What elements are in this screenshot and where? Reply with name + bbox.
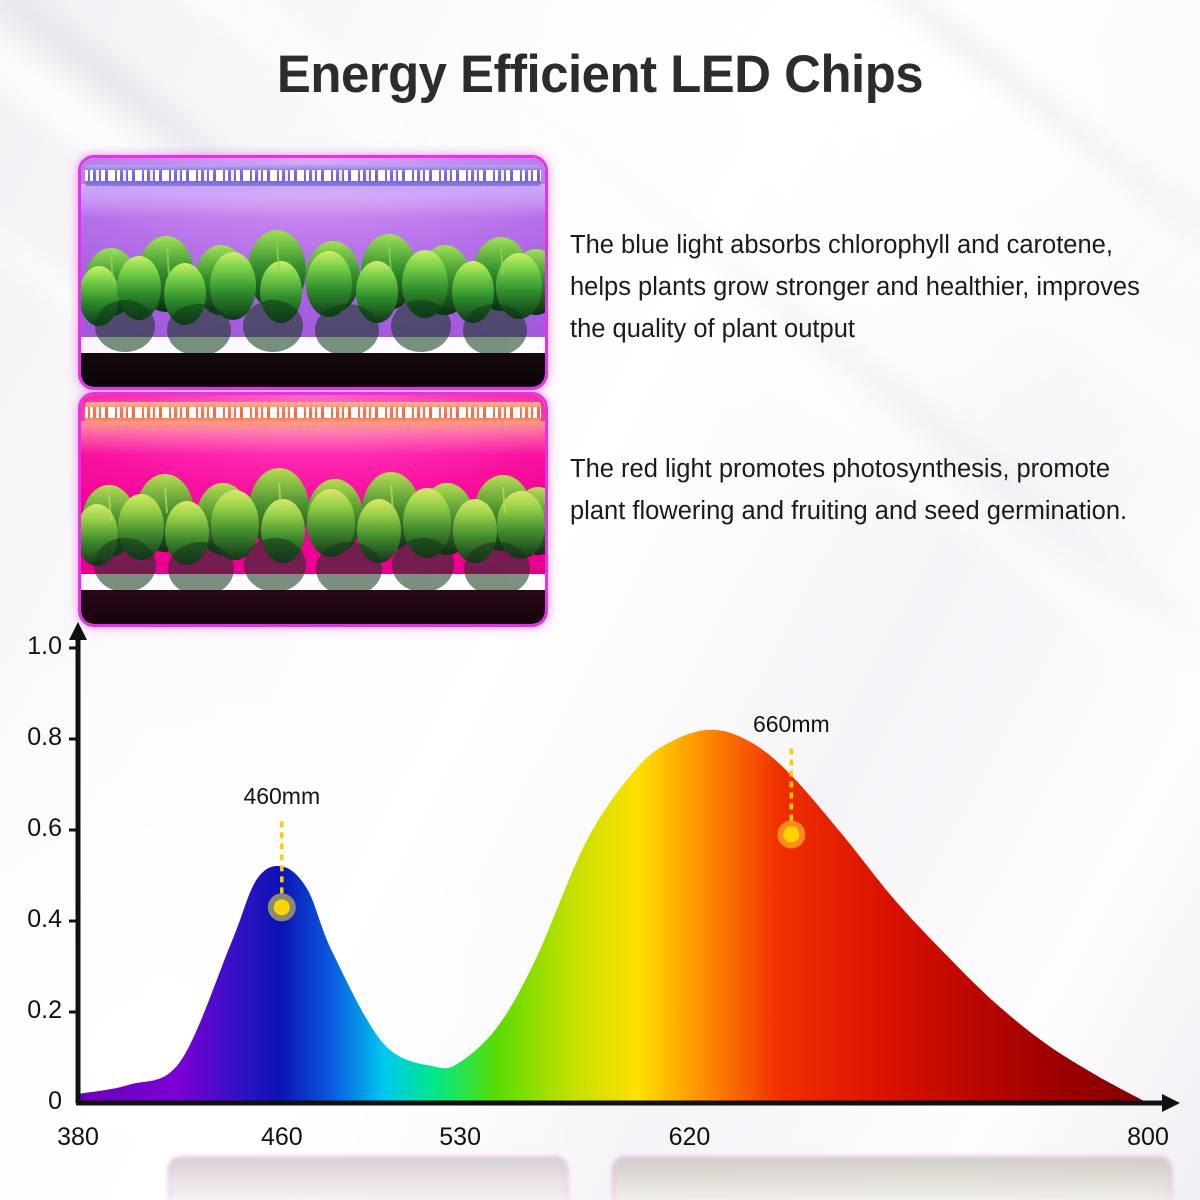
- blue-led-grow-light-photo: [81, 158, 545, 387]
- led-chip-row: [85, 170, 541, 181]
- x-axis-label: 380: [38, 1123, 118, 1152]
- red-led-strip: [85, 402, 541, 423]
- x-axis-label: 620: [649, 1123, 729, 1152]
- peak-label: 660mm: [721, 711, 861, 738]
- page-title: Energy Efficient LED Chips: [24, 44, 1176, 105]
- blue-light-description: The blue light absorbs chlorophyll and c…: [570, 224, 1170, 350]
- y-axis-label: 0.6: [6, 814, 62, 843]
- peak-marker-dot: [783, 827, 799, 843]
- blue-led-glow: [81, 184, 545, 218]
- plant-canopy: [81, 222, 545, 357]
- plant-tray: [81, 353, 545, 387]
- plant-canopy: [81, 459, 545, 594]
- x-axis-label: 800: [1108, 1123, 1188, 1152]
- x-axis-label: 530: [420, 1123, 500, 1152]
- y-axis-label: 0.4: [6, 905, 62, 934]
- peak-marker-dot: [274, 899, 290, 915]
- blue-light-image-card: [78, 155, 548, 390]
- y-axis-label: 0.8: [6, 723, 62, 752]
- chart-canvas: [0, 620, 1200, 1180]
- plant-tray: [81, 590, 545, 624]
- blue-led-strip: [85, 165, 541, 186]
- red-light-image-card: [78, 392, 548, 627]
- red-led-glow: [81, 421, 545, 455]
- red-led-grow-light-photo: [81, 395, 545, 624]
- y-axis-arrow: [69, 622, 87, 640]
- y-axis-label: 0: [6, 1087, 62, 1116]
- y-axis-label: 1.0: [6, 632, 62, 661]
- spectrum-chart: 00.20.40.60.81.0 380460530620800 460mm66…: [0, 620, 1200, 1180]
- y-axis-label: 0.2: [6, 996, 62, 1025]
- red-light-description: The red light promotes photosynthesis, p…: [570, 448, 1170, 532]
- peak-label: 460mm: [212, 783, 352, 810]
- x-axis-arrow: [1162, 1094, 1180, 1112]
- led-chip-row: [85, 407, 541, 418]
- x-axis-label: 460: [242, 1123, 322, 1152]
